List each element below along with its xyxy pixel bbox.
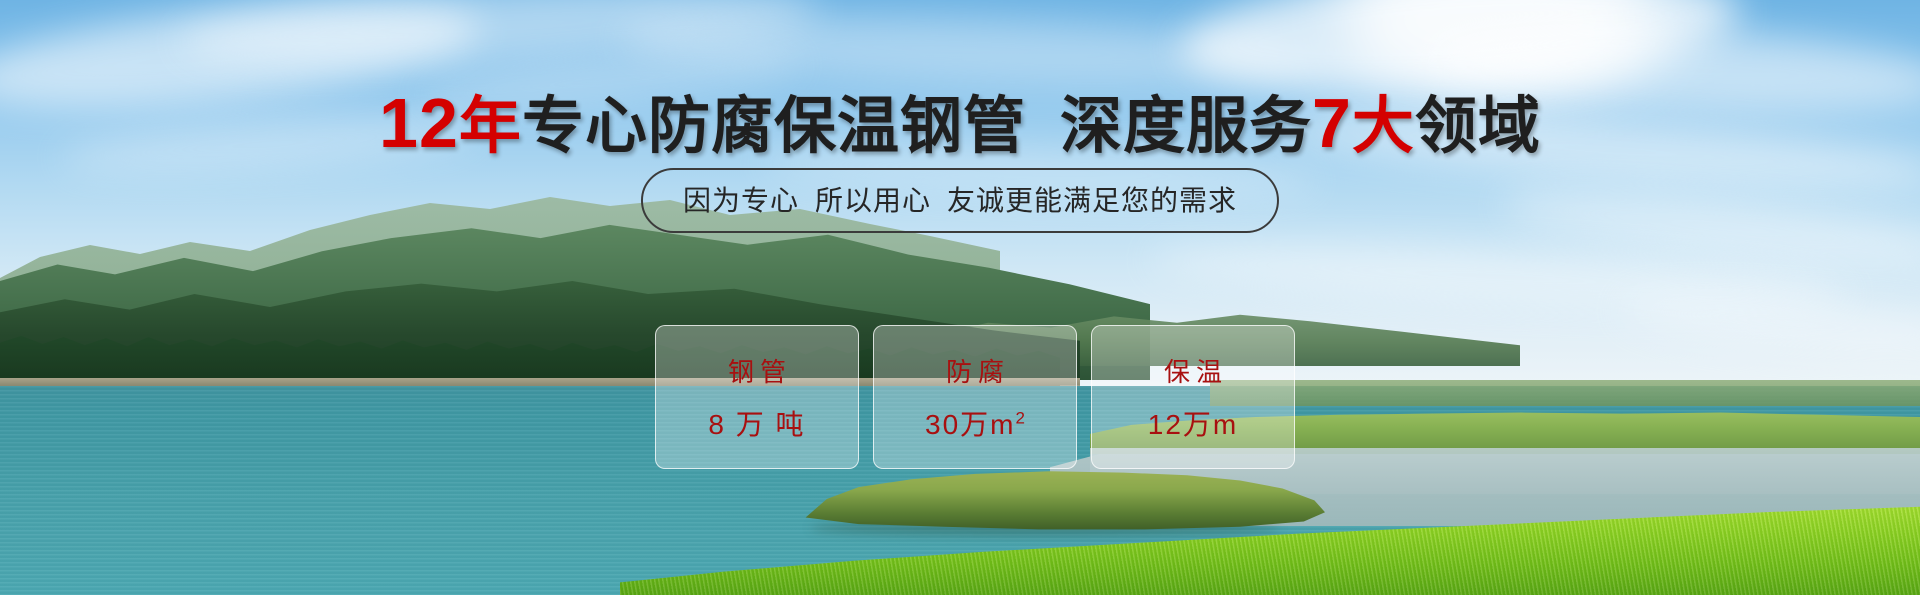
subtitle-part-one: 因为专心 [683,185,799,216]
headline-segment-three: 领域 [1415,92,1541,161]
stat-card-steel-pipe[interactable]: 钢管 8 万 吨 [655,325,859,469]
stat-card-insulation[interactable]: 保温 12万m [1091,325,1295,469]
stat-card-value-text: 30万m [925,409,1015,440]
stat-card-value: 12万m [1148,403,1238,443]
headline-segment-two: 深度服务 [1060,92,1312,161]
stat-card-value-text: 12万m [1148,409,1238,440]
headline-years-number: 12 [379,84,459,162]
stat-card-anticorrosion[interactable]: 防腐 30万m2 [873,325,1077,469]
headline-highlight-unit: 大 [1352,92,1415,161]
stat-card-group: 钢管 8 万 吨 防腐 30万m2 保温 12万m [655,325,1295,469]
stat-card-value-text: 8 万 吨 [708,409,805,440]
subtitle-pill: 因为专心所以用心友诚更能满足您的需求 [641,168,1279,233]
headline-years-unit: 年 [459,92,522,161]
headline-highlight-number: 7 [1312,84,1352,162]
banner-headline: 12年专心防腐保温钢管深度服务7大领域 [0,88,1920,158]
stat-card-value: 8 万 吨 [708,403,805,443]
stat-card-title: 防腐 [940,352,1010,389]
stat-card-value: 30万m2 [925,403,1025,443]
promo-banner: 12年专心防腐保温钢管深度服务7大领域 因为专心所以用心友诚更能满足您的需求 钢… [0,0,1920,595]
subtitle-part-three: 友诚更能满足您的需求 [947,185,1237,216]
headline-segment-one: 专心防腐保温钢管 [522,92,1026,161]
stat-card-title: 保温 [1158,352,1228,389]
far-marsh-band [1210,380,1920,406]
stat-card-value-superscript: 2 [1016,408,1025,427]
subtitle-part-two: 所以用心 [815,185,931,216]
stat-card-title: 钢管 [722,352,792,389]
